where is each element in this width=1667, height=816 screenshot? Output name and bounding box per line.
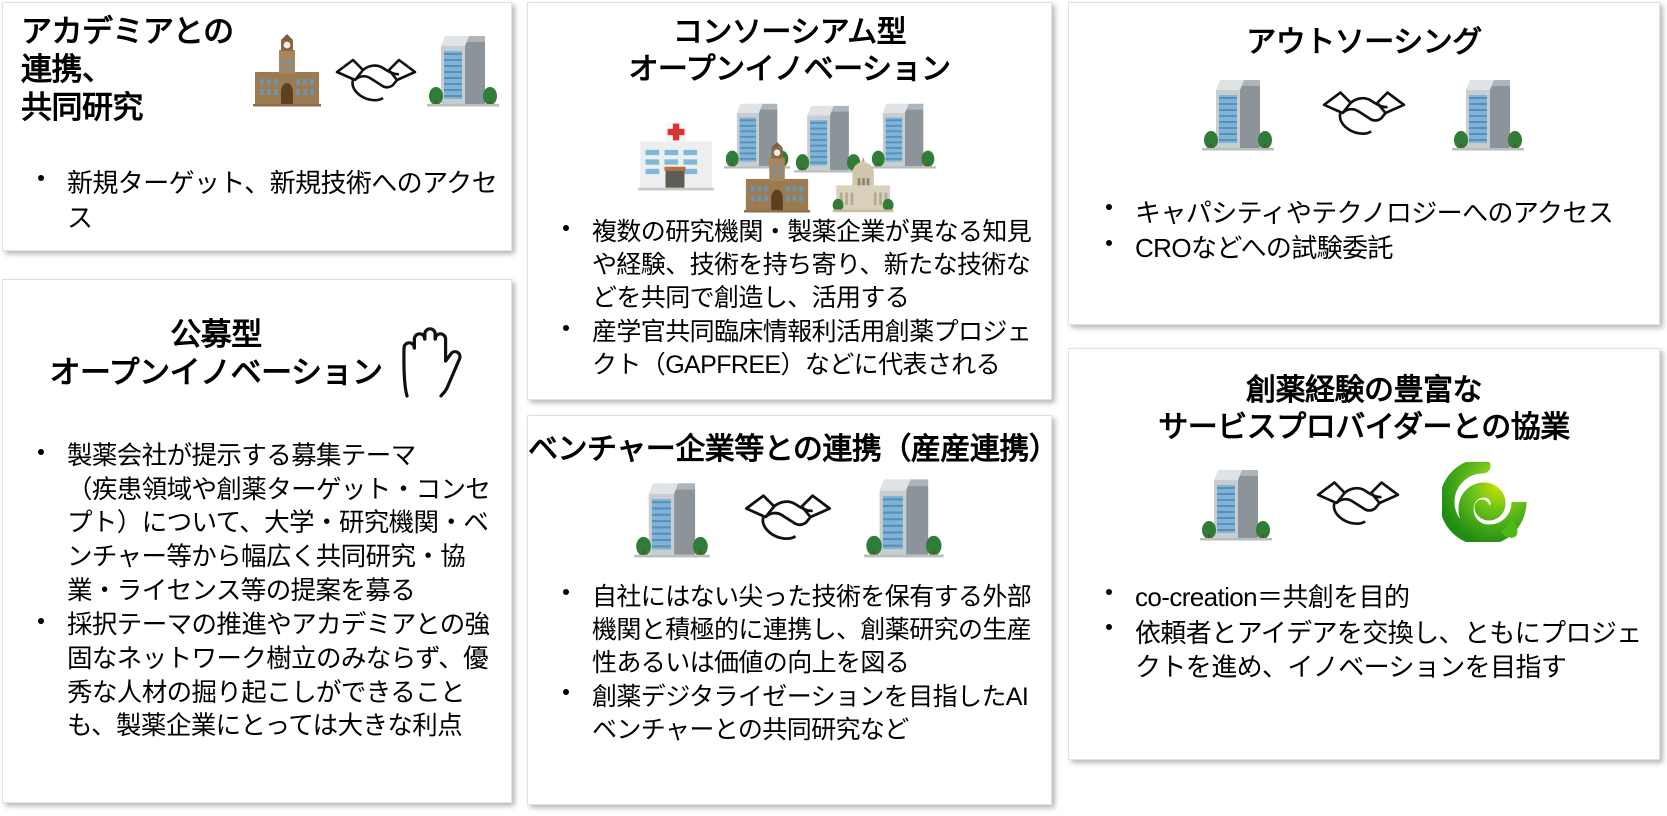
university-icon xyxy=(742,140,814,214)
bullet-text: 産学官共同臨床情報利活用創薬プロジェクト（GAPFREE）などに代表される xyxy=(592,318,1031,379)
card-service-provider-collaboration[interactable]: 創薬経験の豊富な サービスプロバイダーとの協業 co-creation＝共創を目… xyxy=(1068,348,1660,760)
list-item: 依頼者とアイデアを交換し、ともにプロジェクトを進め、イノベーションを目指す xyxy=(1095,616,1643,685)
university-icon xyxy=(251,32,325,108)
bullet-text: キャパシティやテクノロジーへのアクセス xyxy=(1135,198,1613,228)
list-item: キャパシティやテクノロジーへのアクセス xyxy=(1095,196,1659,230)
bullet-list: 複数の研究機関・製薬企業が異なる知見や経験、技術を持ち寄り、新たな技術などを共同… xyxy=(528,216,1051,382)
handshake-icon xyxy=(1320,82,1408,142)
list-item: 創薬デジタライゼーションを目指したAIベンチャーとの共同研究など xyxy=(552,681,1037,747)
list-item: co-creation＝共創を目的 xyxy=(1095,580,1643,614)
bullet-text: 創薬デジタライゼーションを目指したAIベンチャーとの共同研究など xyxy=(592,683,1028,744)
card-title: ベンチャー企業等との連携（産産連携） xyxy=(528,432,1051,469)
bullet-list: キャパシティやテクノロジーへのアクセス CROなどへの試験委託 xyxy=(1069,196,1659,266)
bullet-list: co-creation＝共創を目的 依頼者とアイデアを交換し、ともにプロジェクト… xyxy=(1069,580,1659,684)
bullet-text: 採択テーマの推進やアカデミアとの強固なネットワーク樹立のみならず、優秀な人材の掘… xyxy=(67,611,490,740)
card-outsourcing[interactable]: アウトソーシング キャパシティやテクノロジーへのアクセス CROなどへの試験委託 xyxy=(1068,2,1660,325)
office-building-icon xyxy=(634,479,712,559)
card-consortium-open-innovation[interactable]: コンソーシアム型 オープンイノベーション 複数の研究機関・製薬企業が異なる知見や… xyxy=(527,2,1052,400)
list-item: 産学官共同臨床情報利活用創薬プロジェクト（GAPFREE）などに代表される xyxy=(552,316,1037,382)
list-item: 複数の研究機関・製薬企業が異なる知見や経験、技術を持ち寄り、新たな技術などを共同… xyxy=(552,216,1037,315)
card-academia-collaboration[interactable]: アカデミアとの連携、 共同研究 新規ターゲット、新規技術へのアクセス xyxy=(2,2,512,251)
handshake-icon xyxy=(1314,472,1402,532)
classical-government-building-icon xyxy=(828,146,900,214)
card-title: アカデミアとの連携、 共同研究 xyxy=(21,13,251,126)
list-item: CROなどへの試験委託 xyxy=(1095,231,1659,265)
card-title: 創薬経験の豊富な サービスプロバイダーとの協業 xyxy=(1069,373,1659,446)
office-building-icon xyxy=(864,475,946,559)
office-building-icon xyxy=(1202,76,1276,152)
list-item: 自社にはない尖った技術を保有する外部機関と積極的に連携し、創薬研究の生産性あるい… xyxy=(552,581,1037,680)
bullet-text: 依頼者とアイデアを交換し、ともにプロジェクトを進め、イノベーションを目指す xyxy=(1135,618,1642,682)
card-icon-group xyxy=(528,475,1051,559)
bullet-text: 複数の研究機関・製薬企業が異なる知見や経験、技術を持ち寄り、新たな技術などを共同… xyxy=(592,218,1031,312)
card-title: 公募型 オープンイノベーション xyxy=(49,316,382,392)
card-icon-group xyxy=(528,94,1051,198)
green-swirl-logo-icon xyxy=(1442,462,1528,542)
card-public-offering-open-innovation[interactable]: 公募型 オープンイノベーション 製薬会社が提示する募集テーマ （疾患領域や創薬タ… xyxy=(2,279,512,803)
list-item: 製薬会社が提示する募集テーマ （疾患領域や創薬ターゲット・コンセプト）について、… xyxy=(27,440,493,608)
card-icon-group xyxy=(1069,462,1659,542)
raised-hand-icon xyxy=(393,304,465,404)
bullet-list: 製薬会社が提示する募集テーマ （疾患領域や創薬ターゲット・コンセプト）について、… xyxy=(3,440,511,744)
card-venture-collaboration[interactable]: ベンチャー企業等との連携（産産連携） 自社にはない尖った技術を保有する外部機関と… xyxy=(527,415,1052,805)
bullet-list: 新規ターゲット、新規技術へのアクセス xyxy=(3,166,511,235)
office-building-icon xyxy=(1452,76,1526,152)
bullet-list: 自社にはない尖った技術を保有する外部機関と積極的に連携し、創薬研究の生産性あるい… xyxy=(528,581,1051,747)
card-icon-group xyxy=(251,32,501,108)
office-building-icon xyxy=(427,32,501,108)
bullet-text: co-creation＝共創を目的 xyxy=(1135,582,1409,612)
card-title: コンソーシアム型 オープンイノベーション xyxy=(528,15,1051,88)
bullet-text: 製薬会社が提示する募集テーマ （疾患領域や創薬ターゲット・コンセプト）について、… xyxy=(67,442,490,605)
office-building-icon xyxy=(1200,466,1274,542)
handshake-icon xyxy=(333,50,419,108)
card-icon-group xyxy=(1069,76,1659,152)
bullet-text: 自社にはない尖った技術を保有する外部機関と積極的に連携し、創薬研究の生産性あるい… xyxy=(592,583,1031,677)
card-title: アウトソーシング xyxy=(1069,25,1659,62)
bullet-text: 新規ターゲット、新規技術へのアクセス xyxy=(67,168,497,232)
list-item: 採択テーマの推進やアカデミアとの強固なネットワーク樹立のみならず、優秀な人材の掘… xyxy=(27,609,493,744)
handshake-icon xyxy=(742,485,834,547)
bullet-text: CROなどへの試験委託 xyxy=(1135,233,1393,263)
hospital-icon xyxy=(636,112,714,192)
list-item: 新規ターゲット、新規技術へのアクセス xyxy=(27,166,511,235)
